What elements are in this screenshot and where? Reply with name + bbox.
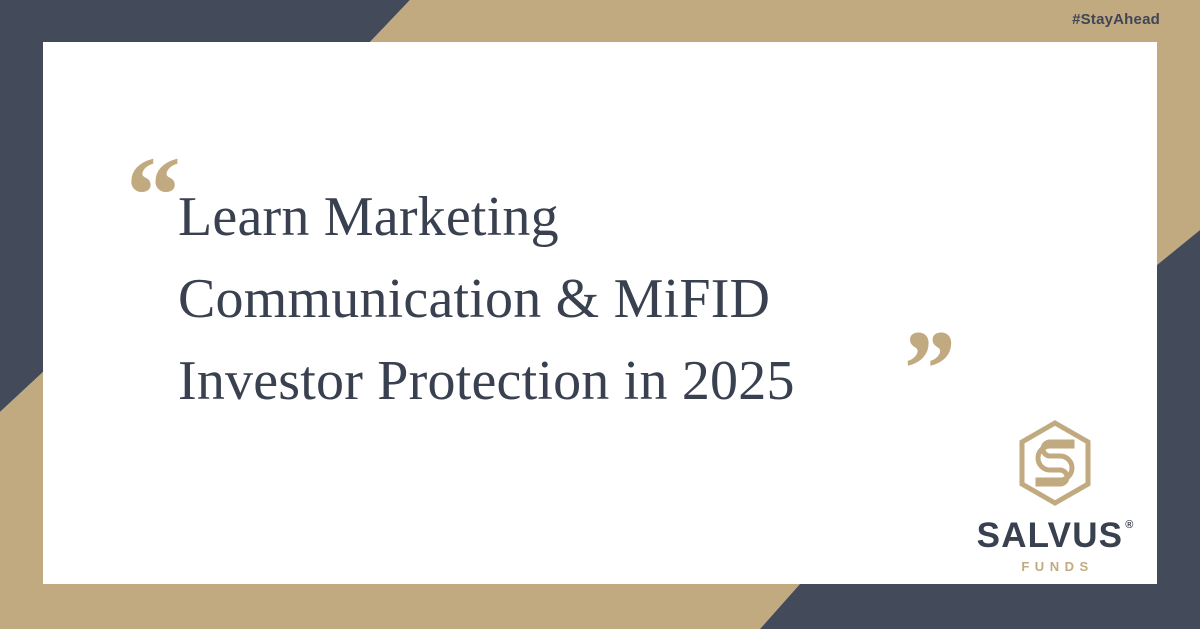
headline-line-2: Communication & MiFID	[178, 258, 1008, 340]
hashtag-label: #StayAhead	[1072, 11, 1160, 28]
right-band-tan	[1157, 42, 1200, 265]
hexagon-s-logo-icon	[1016, 420, 1094, 506]
registered-trademark-icon: ®	[1125, 520, 1133, 531]
right-band-navy	[1157, 230, 1200, 629]
logo-wordmark-row: SALVUS ®	[975, 518, 1135, 553]
logo-wordmark: SALVUS	[977, 518, 1124, 553]
logo-subword: FUNDS	[975, 560, 1135, 573]
opening-quotation-mark-icon: “	[126, 140, 177, 250]
top-band-navy	[0, 0, 410, 42]
headline-text: Learn Marketing Communication & MiFID In…	[178, 176, 1008, 422]
brand-logo-lockup: SALVUS ® FUNDS	[975, 420, 1135, 573]
bottom-band-navy	[760, 584, 1200, 629]
bottom-band-tan	[0, 584, 800, 629]
left-band-navy	[0, 42, 43, 412]
slide-canvas: #StayAhead “ Learn Marketing Communicati…	[0, 0, 1200, 629]
headline-line-3: Investor Protection in 2025	[178, 340, 1008, 422]
logo-hexagon-outline	[1022, 423, 1088, 503]
headline-line-1: Learn Marketing	[178, 176, 1008, 258]
closing-quotation-mark-icon: ”	[898, 314, 949, 424]
